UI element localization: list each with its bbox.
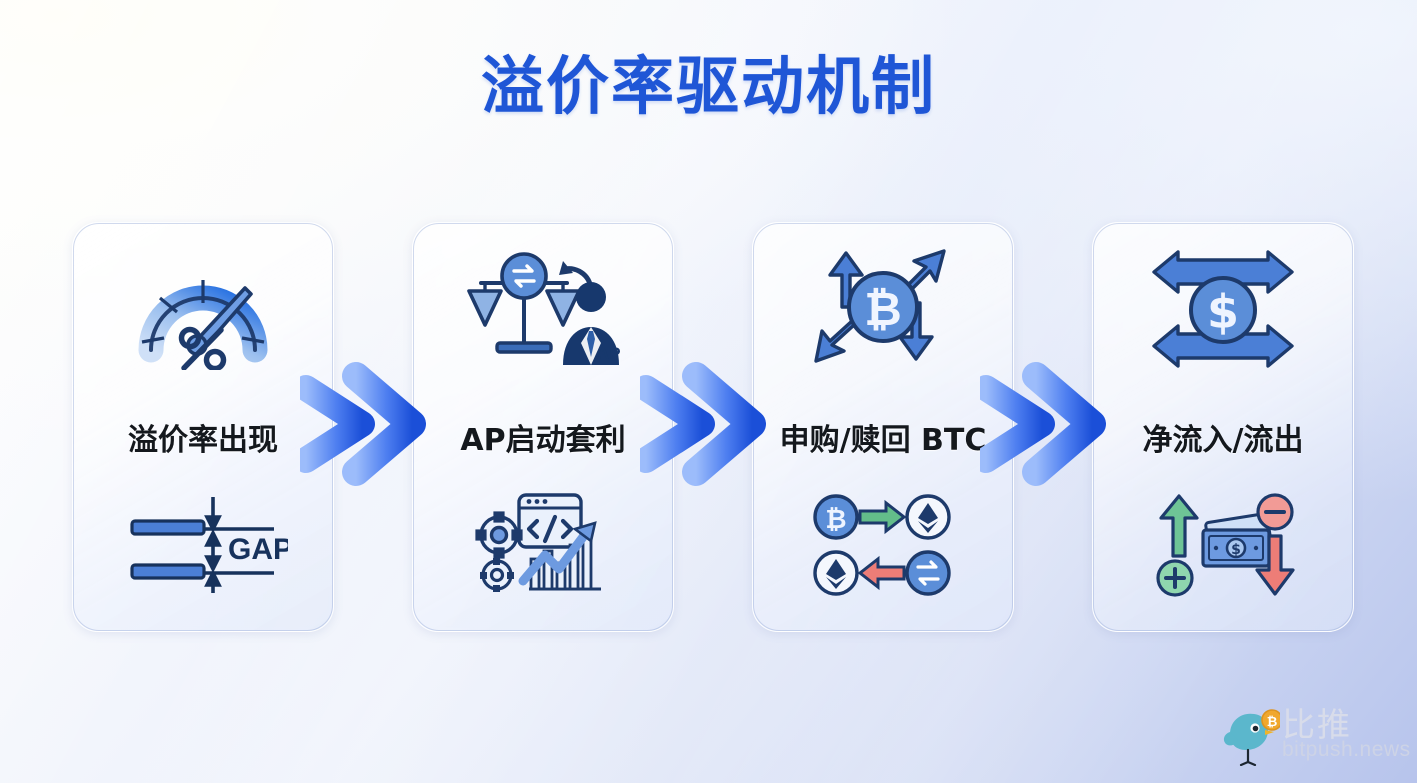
gauge-percent-icon xyxy=(73,245,333,375)
gears-code-chart-icon xyxy=(413,485,673,605)
bitcoin-four-arrows-icon: ₿ xyxy=(753,245,1013,375)
btc-eth-swap-icon: ₿ xyxy=(753,485,1013,605)
dollar-bidirectional-arrows-icon: $ xyxy=(1093,245,1353,375)
infographic-canvas: 溢价率驱动机制 xyxy=(0,0,1417,783)
price-gap-icon: GAP xyxy=(73,485,333,605)
page-title: 溢价率驱动机制 xyxy=(0,52,1417,121)
flow-step-4-label-holder: 净流入/流出 xyxy=(1093,409,1353,465)
ap-badge-label: AP xyxy=(597,344,621,363)
balance-scale-swap-ap-agent-icon: AP xyxy=(413,245,673,375)
svg-text:₿: ₿ xyxy=(825,505,846,535)
flow-step-card-1[interactable]: 溢价率出现 xyxy=(72,222,334,632)
inflow-outflow-cash-icon: $ xyxy=(1093,485,1353,605)
svg-text:$: $ xyxy=(1231,542,1241,558)
flow-step-card-3[interactable]: ₿ 申购/赎回 BTC ₿ xyxy=(752,222,1014,632)
arrow-right-icon-3 xyxy=(980,360,1108,490)
watermark: ₿ 比推 bitpush.news xyxy=(1222,700,1412,770)
arrow-right-icon-1 xyxy=(300,360,428,490)
flow-step-3-label: 申购/赎回 BTC xyxy=(780,415,987,459)
gap-label: GAP xyxy=(228,533,288,566)
flow-step-4-label: 净流入/流出 xyxy=(1143,415,1304,459)
flow-step-1-label-holder: 溢价率出现 xyxy=(73,409,333,465)
watermark-brand-url: bitpush.news xyxy=(1282,738,1411,762)
flow-step-3-label-holder: 申购/赎回 BTC xyxy=(753,409,1013,465)
arrow-right-icon-2 xyxy=(640,360,768,490)
bird-bitcoin-logo: ₿ xyxy=(1222,704,1280,766)
flow-step-card-2[interactable]: AP AP启动套利 xyxy=(412,222,674,632)
flow-step-2-label: AP启动套利 xyxy=(460,415,625,459)
flow-step-1-label: 溢价率出现 xyxy=(128,415,278,459)
dollar-symbol: $ xyxy=(1207,285,1239,339)
flow-step-card-4[interactable]: $ 净流入/流出 xyxy=(1092,222,1354,632)
bitcoin-symbol: ₿ xyxy=(864,282,902,336)
watermark-coin-symbol: ₿ xyxy=(1267,715,1278,730)
flow-step-2-label-holder: AP启动套利 xyxy=(413,409,673,465)
